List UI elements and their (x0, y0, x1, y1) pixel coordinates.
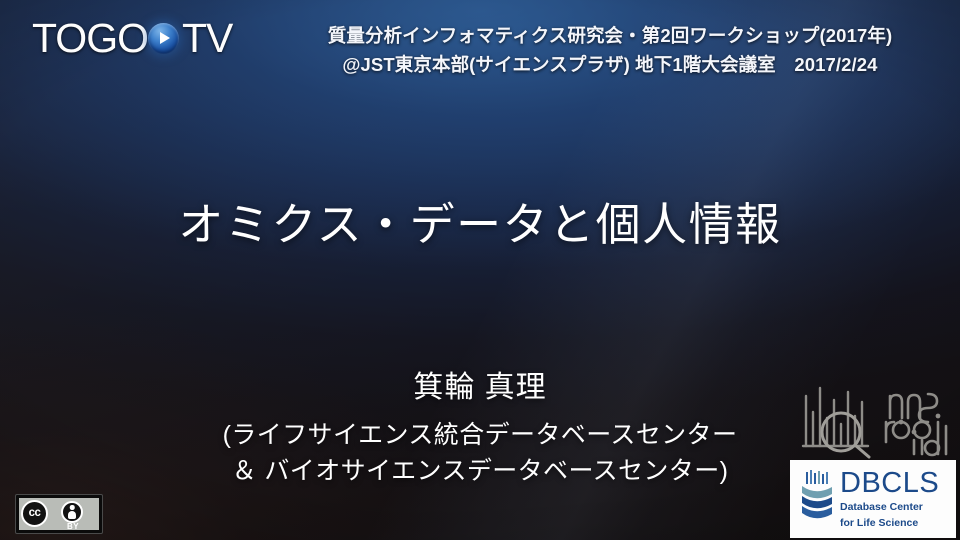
msbioinfo-wordmark (886, 394, 946, 455)
dbcls-logo: DBCLS Database Center for Life Science (790, 460, 956, 538)
msbioinfo-logo (798, 378, 956, 460)
event-header: 質量分析インフォマティクス研究会・第2回ワークショップ(2017年) @JST東… (280, 22, 940, 79)
dna-helix-bars (806, 470, 828, 484)
creative-commons-by-badge: cc BY (15, 494, 103, 534)
event-title-line: 質量分析インフォマティクス研究会・第2回ワークショップ(2017年) (280, 22, 940, 51)
page-title: オミクス・データと個人情報 (0, 198, 960, 252)
togotv-logo-word-right: TV (182, 18, 232, 59)
cc-by-label: BY (61, 522, 85, 531)
togotv-logo-word-left: TOGO (32, 18, 148, 59)
dbcls-name: DBCLS (840, 469, 939, 498)
event-venue-line: @JST東京本部(サイエンスプラザ) 地下1階大会議室 2017/2/24 (280, 51, 940, 80)
play-icon (148, 23, 179, 54)
cc-icon: cc (21, 500, 48, 527)
person-icon-body (68, 511, 76, 519)
dbcls-tagline-line-1: Database Center (840, 501, 939, 514)
dna-helix-strand-upper (802, 486, 832, 498)
cc-badge-panel: cc BY (19, 498, 99, 530)
dna-helix-icon (798, 470, 834, 528)
person-icon (61, 501, 83, 523)
presentation-slide: TOGO TV 質量分析インフォマティクス研究会・第2回ワークショップ(2017… (0, 0, 960, 540)
person-icon-head (70, 505, 75, 510)
dbcls-tagline-line-2: for Life Science (840, 517, 939, 530)
msbioinfo-logo-graphic (798, 378, 956, 460)
person-icon-glyph (66, 505, 79, 519)
dbcls-logo-text: DBCLS Database Center for Life Science (840, 469, 939, 530)
togotv-logo: TOGO TV (32, 14, 232, 62)
